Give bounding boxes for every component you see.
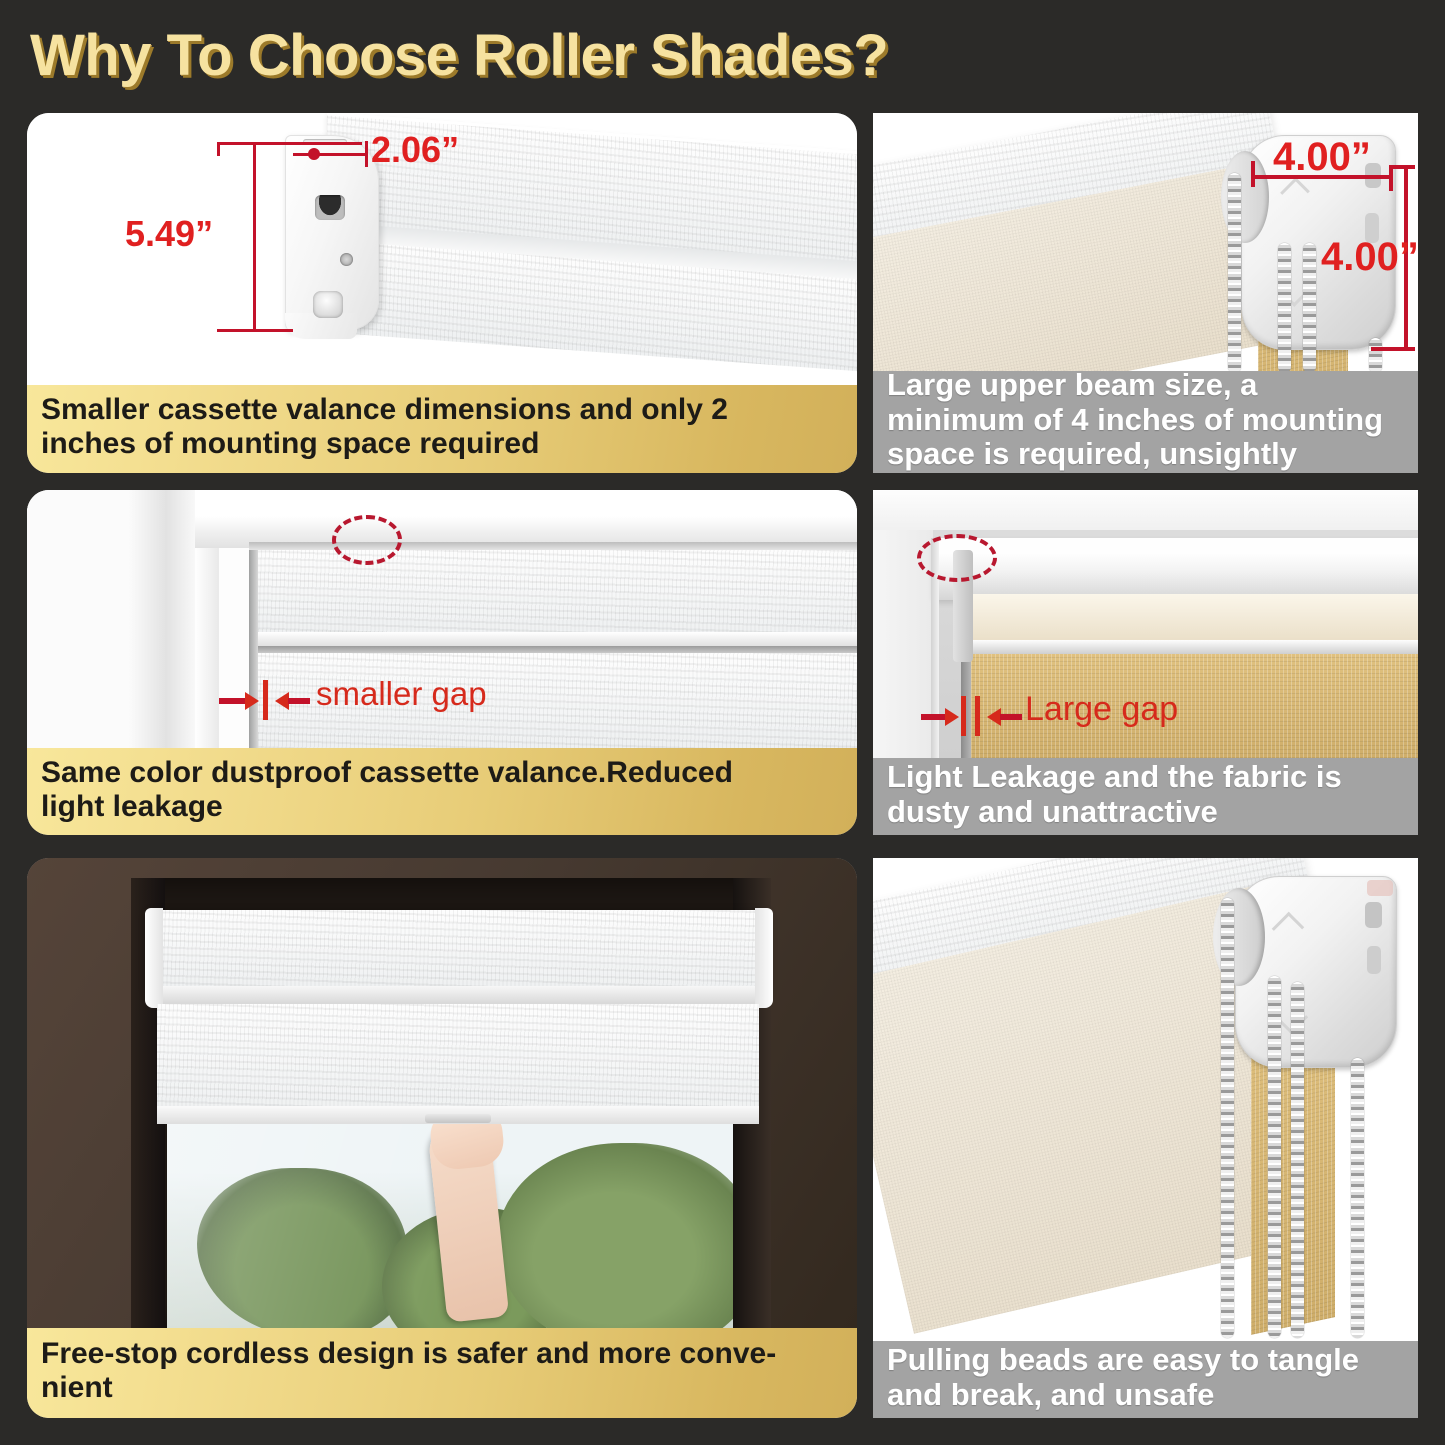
caption-line: Same color dustproof cassette valance.Re… bbox=[41, 756, 733, 790]
shade-cassette-valance bbox=[149, 910, 767, 990]
height-dim-tick-bottom bbox=[217, 329, 293, 332]
panel-bottom-right-caption: Pulling beads are easy to tangle and bre… bbox=[873, 1341, 1418, 1418]
panel-top-right-caption: Large upper beam size, a minimum of 4 in… bbox=[873, 371, 1418, 473]
height-dim-tick-top bbox=[217, 142, 262, 145]
bead-chain-middle bbox=[1278, 243, 1291, 371]
cassette-valance-face bbox=[249, 550, 857, 636]
panel-bottom-left-caption: Free-stop cordless design is safer and m… bbox=[27, 1328, 857, 1418]
gap-callout-arrow-right bbox=[987, 708, 1001, 726]
page-title: Why To Choose Roller Shades? bbox=[30, 22, 888, 89]
bracket-slot-upper bbox=[1365, 902, 1382, 928]
caption-line: dusty and unattractive bbox=[887, 795, 1342, 830]
caption-line: minimum of 4 inches of mounting bbox=[887, 403, 1383, 438]
shade-fabric-body bbox=[157, 1004, 759, 1116]
caption-line: light leakage bbox=[41, 790, 733, 824]
ceiling-surface bbox=[873, 490, 1418, 532]
end-cap-slot-icon bbox=[315, 195, 345, 220]
panel-bottom-right-image bbox=[873, 858, 1418, 1341]
panel-bottom-left: Free-stop cordless design is safer and m… bbox=[27, 858, 857, 1418]
gap-marker-line-b bbox=[975, 696, 980, 736]
height-dim-line bbox=[253, 142, 256, 332]
bead-chain-loop bbox=[1351, 1058, 1364, 1338]
bead-chain-front bbox=[1228, 173, 1241, 371]
panel-middle-right-caption: Light Leakage and the fabric is dusty an… bbox=[873, 758, 1418, 835]
caption-line: Large upper beam size, a bbox=[887, 368, 1383, 403]
panel-bottom-left-image bbox=[27, 858, 857, 1328]
gap-callout-label: Large gap bbox=[1025, 690, 1178, 729]
panel-top-left-image: 2.06” 5.49” bbox=[27, 113, 857, 385]
gap-callout-label: smaller gap bbox=[316, 675, 487, 713]
height-dimension-label: 5.49” bbox=[125, 213, 213, 255]
bead-chain-rear bbox=[1303, 243, 1316, 371]
panel-middle-right-image: Large gap bbox=[873, 490, 1418, 758]
valance-end-right bbox=[755, 908, 773, 1008]
panel-bottom-right: Pulling beads are easy to tangle and bre… bbox=[873, 858, 1418, 1418]
shade-bottom-handle bbox=[425, 1114, 491, 1123]
panel-middle-right: Large gap Light Leakage and the fabric i… bbox=[873, 490, 1418, 835]
end-cap-screw-icon bbox=[340, 253, 353, 266]
end-cap-knob-icon bbox=[313, 291, 343, 318]
panel-top-right-image: 4.00” 4.00” bbox=[873, 113, 1418, 371]
gap-highlight-circle bbox=[332, 515, 402, 565]
caption-line: Light Leakage and the fabric is bbox=[887, 760, 1342, 795]
gap-callout-arrow-right bbox=[275, 692, 289, 710]
infographic-root: Why To Choose Roller Shades? 2.06” bbox=[0, 0, 1445, 1445]
width-dimension-label: 2.06” bbox=[371, 129, 459, 171]
caption-line: Free-stop cordless design is safer and m… bbox=[41, 1337, 776, 1371]
width-dimension-label: 4.00” bbox=[1273, 135, 1371, 180]
caption-line: inches of mounting space required bbox=[41, 427, 728, 461]
caption-line: space is required, unsightly bbox=[887, 437, 1383, 472]
bead-chain-front bbox=[1221, 898, 1234, 1338]
panel-middle-left-image: smaller gap bbox=[27, 490, 857, 748]
width-dim-arrow-bar bbox=[293, 153, 368, 156]
caption-line: nient bbox=[41, 1371, 776, 1405]
bead-chain-loop bbox=[1369, 338, 1382, 371]
bracket-slot-lower bbox=[1367, 946, 1381, 974]
height-dim-tick-bottom bbox=[1371, 347, 1415, 351]
bead-chain-middle bbox=[1268, 976, 1281, 1338]
caption-line: Smaller cassette valance dimensions and … bbox=[41, 393, 728, 427]
width-dim-tick-left bbox=[1251, 161, 1255, 187]
bead-chain-rear bbox=[1291, 982, 1304, 1338]
bracket-tab-right bbox=[1367, 880, 1393, 896]
gap-marker-line bbox=[263, 680, 268, 720]
gap-highlight-circle bbox=[917, 534, 997, 582]
gap-callout-arrow-left bbox=[245, 692, 259, 710]
panel-middle-left: smaller gap Same color dustproof cassett… bbox=[27, 490, 857, 835]
shade-roll-cream bbox=[959, 594, 1418, 642]
width-dim-dot bbox=[308, 148, 320, 160]
caption-line: and break, and unsafe bbox=[887, 1378, 1359, 1413]
gap-callout-bar-right bbox=[1000, 714, 1022, 720]
gap-marker-line-a bbox=[961, 696, 966, 736]
shade-left-edge bbox=[249, 550, 258, 748]
caption-line: Pulling beads are easy to tangle bbox=[887, 1343, 1359, 1378]
panel-top-left: 2.06” 5.49” Smaller cassette valance dim… bbox=[27, 113, 857, 473]
gap-callout-bar-left bbox=[921, 714, 947, 720]
panel-middle-left-caption: Same color dustproof cassette valance.Re… bbox=[27, 748, 857, 835]
gap-callout-bar-right bbox=[288, 698, 310, 704]
height-dimension-label: 4.00” bbox=[1321, 235, 1418, 280]
gap-callout-bar-left bbox=[219, 698, 247, 704]
height-dim-tick-top bbox=[1393, 165, 1415, 169]
window-frame-left bbox=[27, 490, 197, 748]
width-dim-tick-right bbox=[365, 141, 368, 167]
window-frame-head bbox=[195, 490, 857, 548]
panel-top-right: 4.00” 4.00” Large upper beam size, a min… bbox=[873, 113, 1418, 473]
upper-beam bbox=[933, 538, 1418, 600]
valance-end-left bbox=[145, 908, 163, 1008]
valance-lip bbox=[149, 986, 767, 1004]
panel-top-left-caption: Smaller cassette valance dimensions and … bbox=[27, 385, 857, 473]
gap-callout-arrow-left bbox=[945, 708, 959, 726]
